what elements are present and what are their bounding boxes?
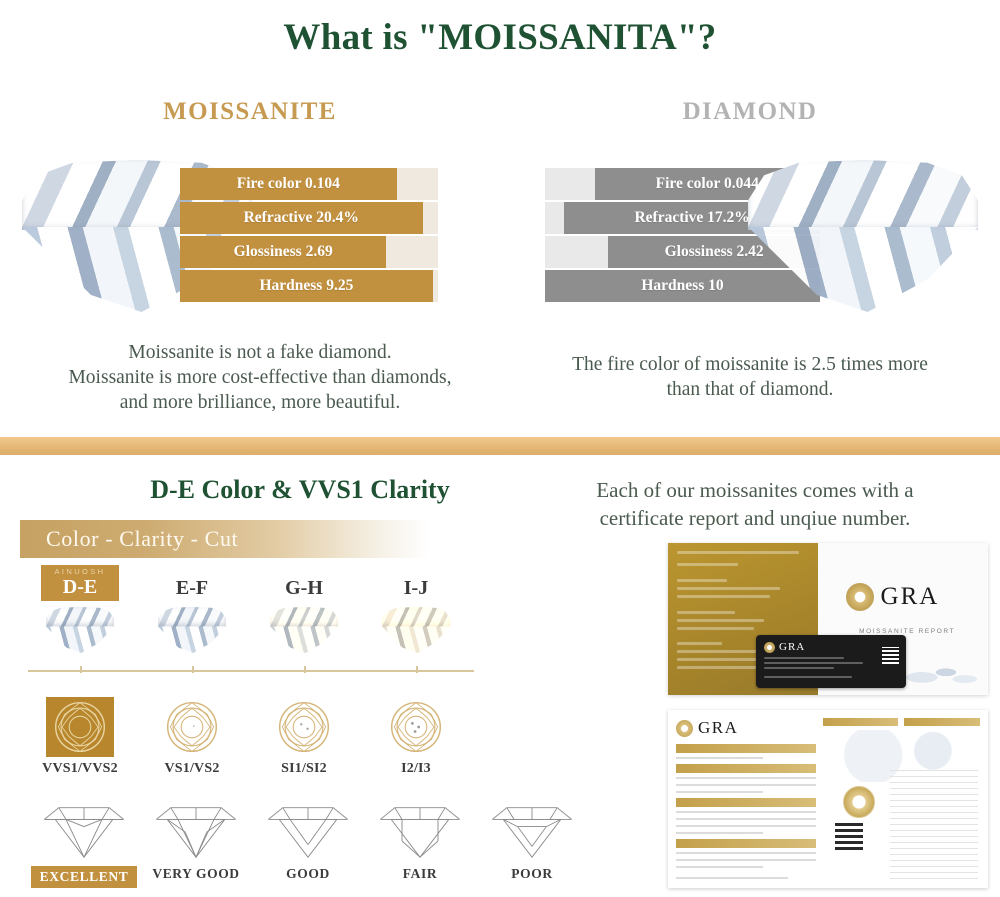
moissanite-bar-chart: Fire color 0.104 Refractive 20.4% Glossi… xyxy=(180,168,438,306)
bar-fill: Refractive 20.4% xyxy=(180,202,423,234)
mini-gem-icon xyxy=(270,607,338,653)
cut-grade-good[interactable]: GOOD xyxy=(252,805,364,882)
bar-row: Glossiness 2.69 xyxy=(180,236,438,268)
bar-row: Hardness 9.25 xyxy=(180,270,438,302)
gra-brand-label: GRA xyxy=(698,718,738,738)
gem-crown xyxy=(158,607,226,627)
gra-seal-icon xyxy=(846,583,874,611)
section-divider xyxy=(0,437,1000,455)
certificate-heading: Each of our moissanites comes with a cer… xyxy=(520,476,990,532)
gem-crown xyxy=(748,160,978,230)
cut-grade-label: POOR xyxy=(476,866,588,882)
cut-grade-very-good[interactable]: VERY GOOD xyxy=(140,805,252,882)
color-clarity-heading: D-E Color & VVS1 Clarity xyxy=(20,475,580,505)
color-grade-row: AINUOSH D-E E-F G-H I-J xyxy=(28,565,478,685)
clarity-grade-vvs[interactable]: VVS1/VVS2 xyxy=(28,697,132,777)
page-title: What is "MOISSANITA"? xyxy=(0,16,1000,59)
color-grade-label: G-H xyxy=(252,565,356,601)
gra-id-card: GRA xyxy=(756,635,906,688)
gra-seal-icon xyxy=(843,786,875,818)
cut-grade-label: FAIR xyxy=(364,866,476,882)
report-section-bar xyxy=(676,764,816,773)
banner-label: Color - Clarity - Cut xyxy=(20,526,238,552)
clarity-swatch xyxy=(270,697,338,757)
clarity-swatch xyxy=(158,697,226,757)
bar-fill: Hardness 9.25 xyxy=(180,270,433,302)
cut-grade-label: GOOD xyxy=(252,866,364,882)
clarity-grade-vs[interactable]: VS1/VS2 xyxy=(140,697,244,777)
clarity-grade-label: VVS1/VVS2 xyxy=(28,761,132,777)
gem-pavilion xyxy=(382,626,450,653)
scale-tick xyxy=(416,666,418,673)
report-section-bar xyxy=(823,718,899,726)
color-grade-gh[interactable]: G-H xyxy=(252,565,356,653)
gra-certificate-card: GRA MOISSANITE REPORT GRA xyxy=(668,543,988,695)
gra-logo: GRA xyxy=(676,718,816,738)
clarity-swatch xyxy=(382,697,450,757)
mini-gem-icon xyxy=(382,607,450,653)
color-grade-ij[interactable]: I-J xyxy=(364,565,468,653)
gem-crown xyxy=(270,607,338,627)
report-section-bar xyxy=(676,839,816,848)
clarity-grade-i2i3[interactable]: I2/I3 xyxy=(364,697,468,777)
scale-tick xyxy=(304,666,306,673)
gra-seal-icon xyxy=(764,642,775,653)
gem-pavilion xyxy=(270,626,338,653)
scale-tick xyxy=(80,666,82,673)
report-section-bar xyxy=(676,798,816,807)
diamond-outline-icon xyxy=(262,805,354,859)
gem-pavilion xyxy=(46,626,114,653)
clarity-grade-label: I2/I3 xyxy=(364,761,468,777)
moissanite-column-heading: MOISSANITE xyxy=(100,98,400,126)
color-grade-label: I-J xyxy=(364,565,468,601)
qr-code-icon xyxy=(835,822,863,850)
report-left-column: GRA xyxy=(676,718,816,880)
cut-grade-excellent[interactable]: EXCELLENT xyxy=(28,805,140,888)
cut-grade-label: EXCELLENT xyxy=(31,866,138,888)
loose-gems-image xyxy=(896,657,982,691)
mini-gem-icon xyxy=(46,607,114,653)
gra-brand-label: GRA xyxy=(779,641,805,653)
cut-grade-label: VERY GOOD xyxy=(140,866,252,882)
bar-row: Fire color 0.104 xyxy=(180,168,438,200)
gra-brand-label: GRA xyxy=(881,583,940,611)
round-brilliant-icon xyxy=(165,700,219,754)
clarity-grade-row: VVS1/VVS2 VS1/VS2 xyxy=(28,697,478,797)
bar-fill: Glossiness 2.69 xyxy=(180,236,386,268)
round-brilliant-icon xyxy=(389,700,443,754)
color-grade-label: E-F xyxy=(140,565,244,601)
color-grade-badge: AINUOSH D-E xyxy=(41,565,119,601)
diamond-caption: The fire color of moissanite is 2.5 time… xyxy=(510,352,990,402)
gem-pavilion xyxy=(158,626,226,653)
color-scale-baseline xyxy=(28,670,474,672)
gem-crown xyxy=(46,607,114,627)
color-grade-de[interactable]: AINUOSH D-E xyxy=(28,565,132,653)
diamond-outline-icon xyxy=(38,805,130,859)
diamond-outline-icon xyxy=(486,805,578,859)
report-section-bar xyxy=(676,744,816,753)
moissanite-caption: Moissanite is not a fake diamond. Moissa… xyxy=(10,340,510,415)
round-brilliant-icon xyxy=(277,700,331,754)
cut-grade-row: EXCELLENT VERY GOOD GOOD xyxy=(28,805,588,890)
gra-card-logo: GRA xyxy=(764,641,898,653)
gra-seal-icon xyxy=(676,720,693,737)
diamond-column-heading: DIAMOND xyxy=(600,98,900,126)
gem-crown xyxy=(382,607,450,627)
bar-row: Refractive 20.4% xyxy=(180,202,438,234)
gra-report-document: GRA xyxy=(668,710,988,888)
bar-fill: Fire color 0.104 xyxy=(180,168,397,200)
clarity-grade-label: VS1/VS2 xyxy=(140,761,244,777)
clarity-swatch xyxy=(46,697,114,757)
color-clarity-cut-banner: Color - Clarity - Cut xyxy=(20,520,430,558)
color-grade-ef[interactable]: E-F xyxy=(140,565,244,653)
gra-logo: GRA xyxy=(846,583,940,611)
clarity-grade-label: SI1/SI2 xyxy=(252,761,356,777)
clarity-grade-si[interactable]: SI1/SI2 xyxy=(252,697,356,777)
qr-code-icon xyxy=(882,647,899,664)
cut-grade-fair[interactable]: FAIR xyxy=(364,805,476,882)
report-section-bar xyxy=(904,718,980,726)
diamond-outline-icon xyxy=(150,805,242,859)
scale-tick xyxy=(192,666,194,673)
mini-gem-icon xyxy=(158,607,226,653)
grading-scale-table xyxy=(890,766,978,884)
diamond-gem-image xyxy=(748,160,978,312)
report-right-column xyxy=(823,718,980,880)
cut-grade-poor[interactable]: POOR xyxy=(476,805,588,882)
color-grade-label: D-E xyxy=(41,577,119,598)
gem-pavilion xyxy=(748,227,978,312)
diamond-outline-icon xyxy=(374,805,466,859)
round-brilliant-icon xyxy=(53,700,107,754)
